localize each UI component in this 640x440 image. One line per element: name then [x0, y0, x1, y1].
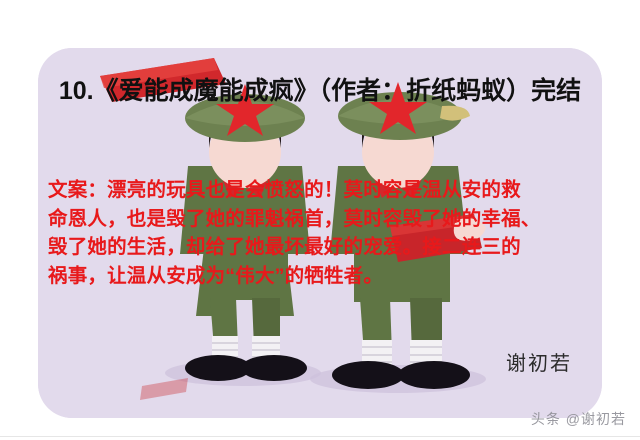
- platform-watermark: 头条 @谢初若: [531, 409, 626, 429]
- bottom-divider: [0, 436, 640, 437]
- synopsis-text: 文案：漂亮的玩具也是会愤怒的！莫时容是温从安的救 命恩人，也是毁了她的罪魁祸首，…: [44, 176, 602, 290]
- content-card: 10.《爱能成魔能成疯》（作者：折纸蚂蚁）完结 文案：漂亮的玩具也是会愤怒的！莫…: [38, 48, 602, 418]
- synopsis-line-2: 命恩人，也是毁了她的罪魁祸首，莫时容毁了她的幸福、: [48, 205, 600, 234]
- synopsis-line-3: 毁了她的生活，却给了她最坏最好的宠爱。接二连三的: [48, 233, 600, 262]
- synopsis-line-4: 祸事，让温从安成为“伟大”的牺牲者。: [48, 262, 600, 291]
- screenshot-canvas: 10.《爱能成魔能成疯》（作者：折纸蚂蚁）完结 文案：漂亮的玩具也是会愤怒的！莫…: [0, 0, 640, 440]
- author-signature: 谢初若: [506, 347, 572, 376]
- page-title: 10.《爱能成魔能成疯》（作者：折纸蚂蚁）完结: [38, 78, 602, 106]
- synopsis-line-1: 文案：漂亮的玩具也是会愤怒的！莫时容是温从安的救: [48, 176, 600, 205]
